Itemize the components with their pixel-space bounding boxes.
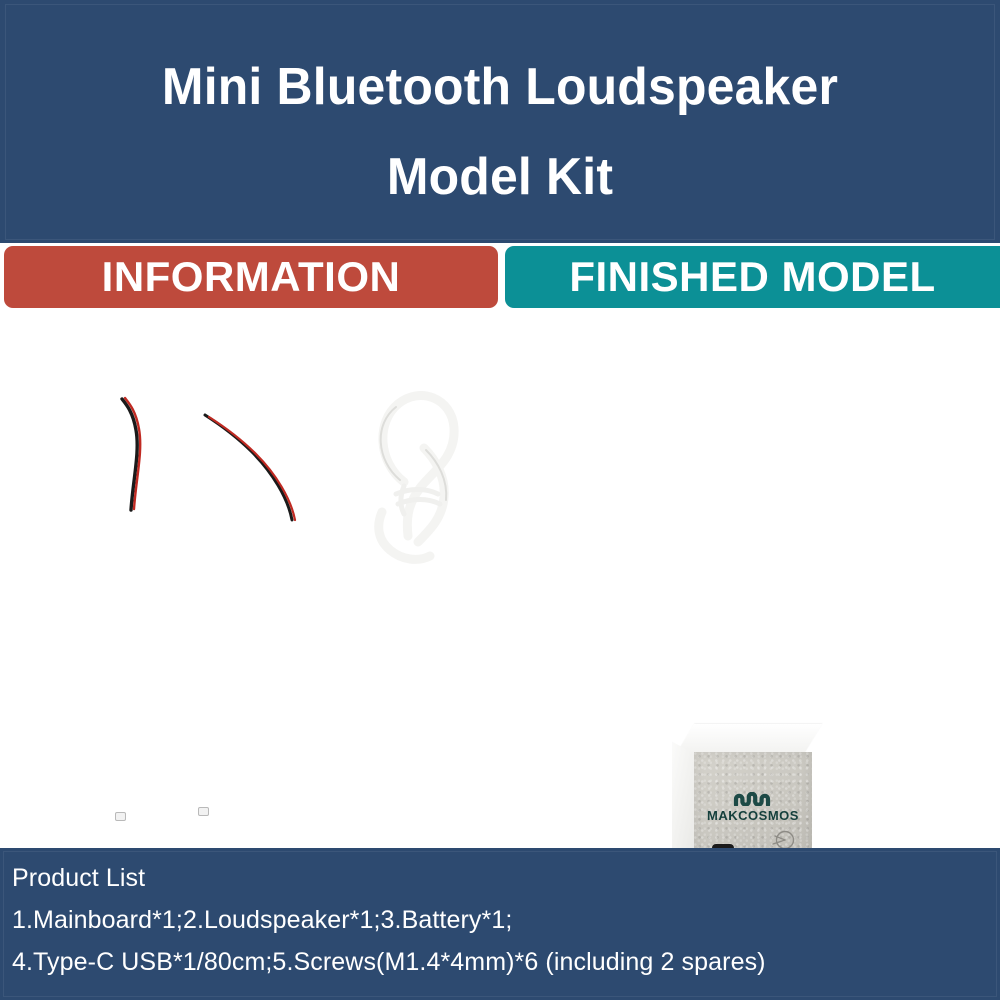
- white-cube-side-face: [672, 742, 696, 863]
- white-cube-top-face: [676, 724, 822, 754]
- tab-information[interactable]: INFORMATION: [4, 246, 498, 308]
- tab-finished-model[interactable]: FINISHED MODEL: [505, 246, 1000, 308]
- brand-name-white: MAKCOSMOS: [707, 808, 799, 823]
- header-banner: Mini Bluetooth Loudspeaker Model Kit: [0, 0, 1000, 243]
- speaker-connector-plug: [115, 812, 126, 821]
- product-list-line-2: 4.Type-C USB*1/80cm;5.Screws(M1.4*4mm)*6…: [12, 948, 766, 977]
- brand-logo-white: MAKCOSMOS: [694, 792, 812, 825]
- makcosmos-wave-icon: [733, 792, 773, 806]
- product-list-heading: Product List: [12, 864, 145, 893]
- product-listing-image: Mini Bluetooth Loudspeaker Model Kit INF…: [0, 0, 1000, 1000]
- product-list-line-1: 1.Mainboard*1;2.Loudspeaker*1;3.Battery*…: [12, 906, 512, 935]
- tab-bar: INFORMATION FINISHED MODEL: [0, 246, 1000, 312]
- title-line-1: Mini Bluetooth Loudspeaker: [20, 42, 980, 132]
- battery-connector-plug: [198, 807, 209, 816]
- title-line-2: Model Kit: [20, 132, 980, 222]
- wire-illustrations: [0, 312, 1000, 846]
- page-title: Mini Bluetooth Loudspeaker Model Kit: [0, 42, 1000, 222]
- product-list-footer: Product List 1.Mainboard*1;2.Loudspeaker…: [0, 848, 1000, 1000]
- product-photo-area: 43.5mm 27.5mm 0.9mm: [0, 312, 1000, 846]
